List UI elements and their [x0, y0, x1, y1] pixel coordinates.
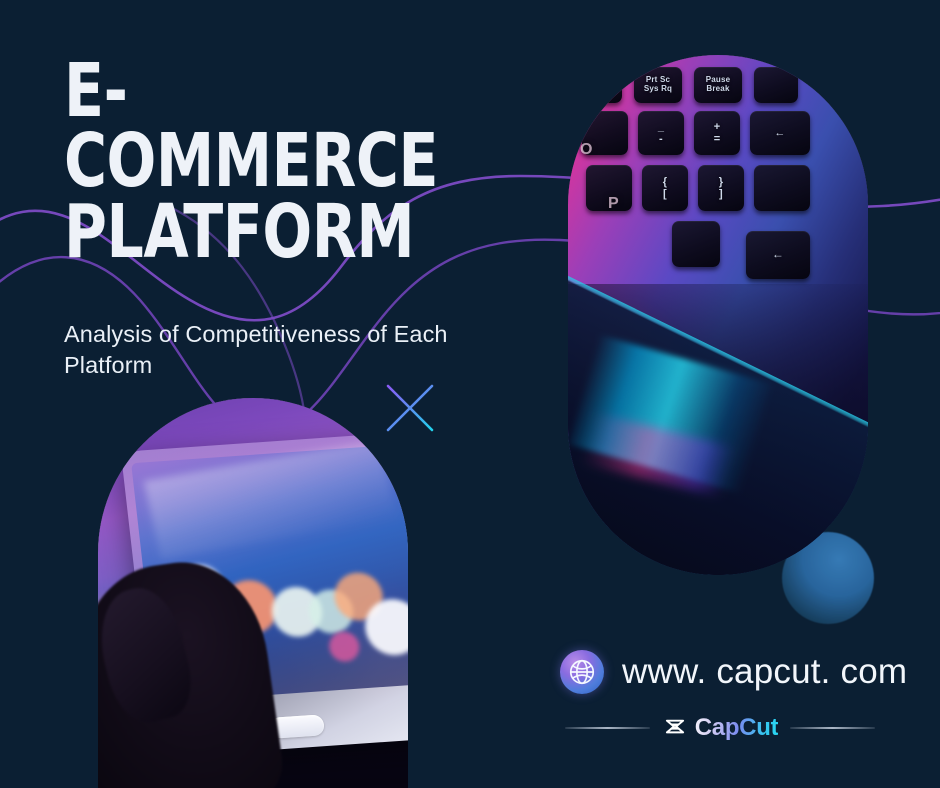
- keyboard-photo-frame: F12Prt Sc Sys RqPause Break_ -+ =←{ [} ]…: [568, 55, 868, 575]
- capcut-logo-icon: [662, 715, 688, 741]
- brand-logo-row: CapCut: [565, 714, 875, 742]
- bokeh-light: [328, 631, 361, 663]
- divider-right: [790, 727, 875, 729]
- website-url-row[interactable]: www. capcut. com: [560, 650, 907, 694]
- phone-photo-frame: [98, 398, 408, 788]
- keyboard-keycap: } ]: [698, 165, 744, 211]
- keyboard-keycap: F12: [582, 69, 622, 103]
- keyboard-keycap: [672, 221, 720, 267]
- globe-icon: [560, 650, 604, 694]
- keyboard-keycap: [754, 67, 798, 103]
- divider-left: [565, 727, 650, 729]
- phone-photo: [98, 398, 408, 788]
- keyboard-keycap: Prt Sc Sys Rq: [634, 67, 682, 103]
- keyboard-keycap: { [: [642, 165, 688, 211]
- website-url-text[interactable]: www. capcut. com: [622, 652, 907, 692]
- capcut-brand-text: CapCut: [695, 714, 779, 742]
- capcut-brand[interactable]: CapCut: [662, 714, 779, 742]
- keyboard-keycap: ←: [750, 111, 810, 155]
- keyboard-keycap: [754, 165, 810, 211]
- poster-canvas: F12Prt Sc Sys RqPause Break_ -+ =←{ [} ]…: [0, 0, 940, 788]
- keyboard-photo: F12Prt Sc Sys RqPause Break_ -+ =←{ [} ]…: [568, 55, 868, 575]
- keyboard-keycap: Pause Break: [694, 67, 742, 103]
- keyboard-keycap: _ -: [638, 111, 684, 155]
- keyboard-keycap: + =: [694, 111, 740, 155]
- headline-block: E-COMMERCE PLATFORM Analysis of Competit…: [64, 56, 494, 381]
- keyboard-keycap: ←: [746, 231, 810, 279]
- page-title: E-COMMERCE PLATFORM: [64, 56, 442, 267]
- sparkle-icon: [374, 372, 446, 444]
- keyboard-key-letter: P: [608, 195, 619, 213]
- keyboard-key-letter: O: [580, 141, 592, 159]
